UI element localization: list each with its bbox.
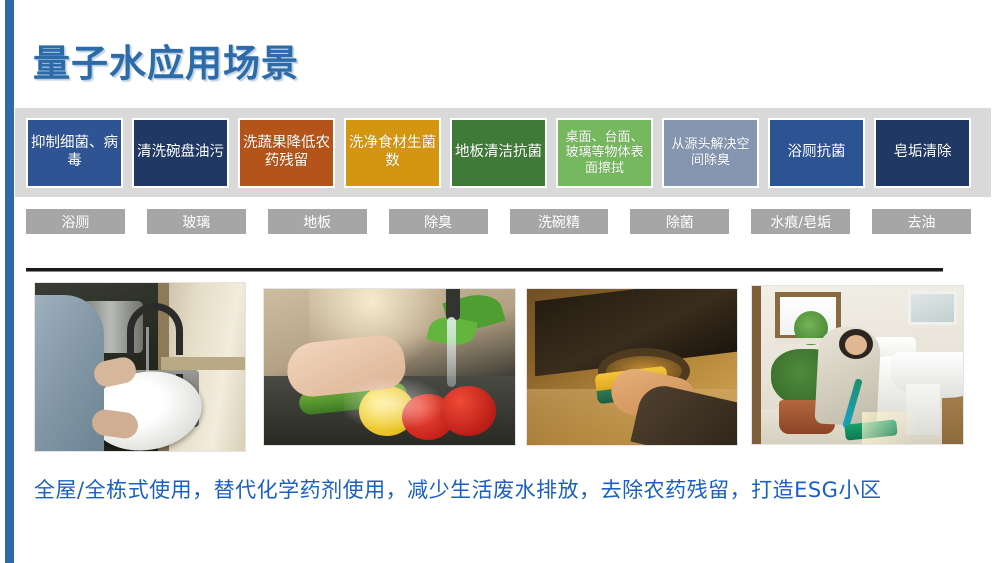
scenario-box-label: 清洗碗盘油污 [137,144,224,162]
footer-caption: 全屋/全栋式使用，替代化学药剂使用，减少生活废水排放，去除农药残留，打造ESG小… [34,474,881,504]
scenario-box-label: 洗净食材生菌数 [349,135,436,171]
photo-range-hood-cleaning [526,288,738,446]
tag-label: 除臭 [424,212,452,232]
scenario-box[interactable]: 从源头解决空间除臭 [662,118,759,188]
scenario-box-label: 皂垢清除 [894,144,952,162]
scenario-box[interactable]: 桌面、台面、玻璃等物体表面擦拭 [556,118,653,188]
scenario-box[interactable]: 地板清洁抗菌 [450,118,547,188]
photo-washing-vegetables [263,288,516,446]
tag-chip[interactable]: 玻璃 [147,209,246,234]
scenario-box-label: 洗蔬果降低农药残留 [243,135,330,171]
photo-bathroom-cleaning [751,285,964,445]
photo-dishwashing [34,282,246,452]
photo-strip [26,282,971,452]
scenario-box[interactable]: 皂垢清除 [874,118,971,188]
tag-chip[interactable]: 去油 [872,209,971,234]
scenario-box[interactable]: 洗蔬果降低农药残留 [238,118,335,188]
scenario-box[interactable]: 洗净食材生菌数 [344,118,441,188]
scenario-box-label: 桌面、台面、玻璃等物体表面擦拭 [561,130,648,177]
left-accent-bar [5,0,14,563]
scenario-box-label: 从源头解决空间除臭 [667,137,754,168]
tag-label: 玻璃 [182,212,210,232]
scenario-box-row: 抑制细菌、病毒 清洗碗盘油污 洗蔬果降低农药残留 洗净食材生菌数 地板清洁抗菌 … [26,118,971,188]
scenario-box[interactable]: 浴厕抗菌 [768,118,865,188]
tag-label: 浴厕 [61,212,89,232]
page-title: 量子水应用场景 [33,33,299,87]
tag-label: 去油 [908,212,936,232]
tag-chip[interactable]: 浴厕 [26,209,125,234]
tag-label: 除菌 [666,212,694,232]
scenario-box[interactable]: 抑制细菌、病毒 [26,118,123,188]
section-divider [26,268,943,272]
tag-label: 地板 [303,212,331,232]
scenario-box-label: 浴厕抗菌 [788,144,846,162]
slide: 量子水应用场景 抑制细菌、病毒 清洗碗盘油污 洗蔬果降低农药残留 洗净食材生菌数… [0,0,1000,563]
tag-row: 浴厕 玻璃 地板 除臭 洗碗精 除菌 水痕/皂垢 去油 [26,209,971,234]
tag-label: 水痕/皂垢 [770,212,831,232]
tag-chip[interactable]: 水痕/皂垢 [751,209,850,234]
scenario-box-label: 抑制细菌、病毒 [31,135,118,171]
tag-chip[interactable]: 除臭 [389,209,488,234]
scenario-box[interactable]: 清洗碗盘油污 [132,118,229,188]
tag-chip[interactable]: 洗碗精 [510,209,609,234]
tag-label: 洗碗精 [538,212,580,232]
tag-chip[interactable]: 地板 [268,209,367,234]
tag-chip[interactable]: 除菌 [630,209,729,234]
scenario-box-label: 地板清洁抗菌 [455,144,542,162]
